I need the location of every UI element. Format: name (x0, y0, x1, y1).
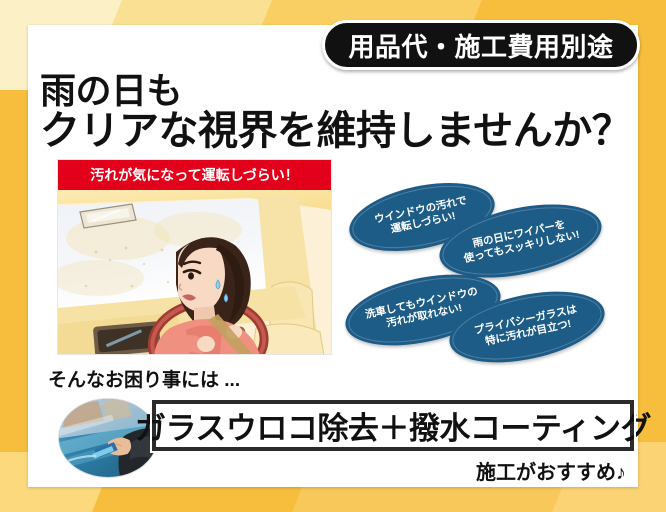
price-note-badge: 用品代・施工費用別途 (322, 20, 640, 70)
headline-line-1: 雨の日も (40, 72, 631, 109)
page-title: 雨の日も クリアな視界を維持しませんか？ (40, 72, 631, 153)
illustration-banner-label: 汚れが気になって運転しづらい！ (90, 165, 298, 185)
complaint-bubble-2-text: 雨の日にワイパーを 使ってもスッキリしない! (460, 216, 581, 267)
complaint-bubble-4-text: プライバシーガラスは 特に汚れが目立つ! (473, 303, 581, 351)
trouble-intro-label: そんなお困り事には ... (48, 365, 240, 392)
illustration-banner: 汚れが気になって運転しづらい！ (58, 160, 331, 190)
advertisement-canvas: 用品代・施工費用別途 雨の日も クリアな視界を維持しませんか？ 汚れが気になって… (0, 0, 666, 512)
service-name-box: ガラスウロコ除去＋撥水コーティング (152, 400, 634, 451)
headline-line-2: クリアな視界を維持しませんか？ (40, 111, 631, 153)
woman-driving-illustration (58, 190, 332, 355)
service-name-label: ガラスウロコ除去＋撥水コーティング (135, 403, 651, 448)
recommendation-label: 施工がおすすめ♪ (476, 456, 626, 485)
driving-illustration-panel: 汚れが気になって運転しづらい！ (57, 159, 332, 355)
price-note-badge-label: 用品代・施工費用別途 (348, 27, 613, 64)
